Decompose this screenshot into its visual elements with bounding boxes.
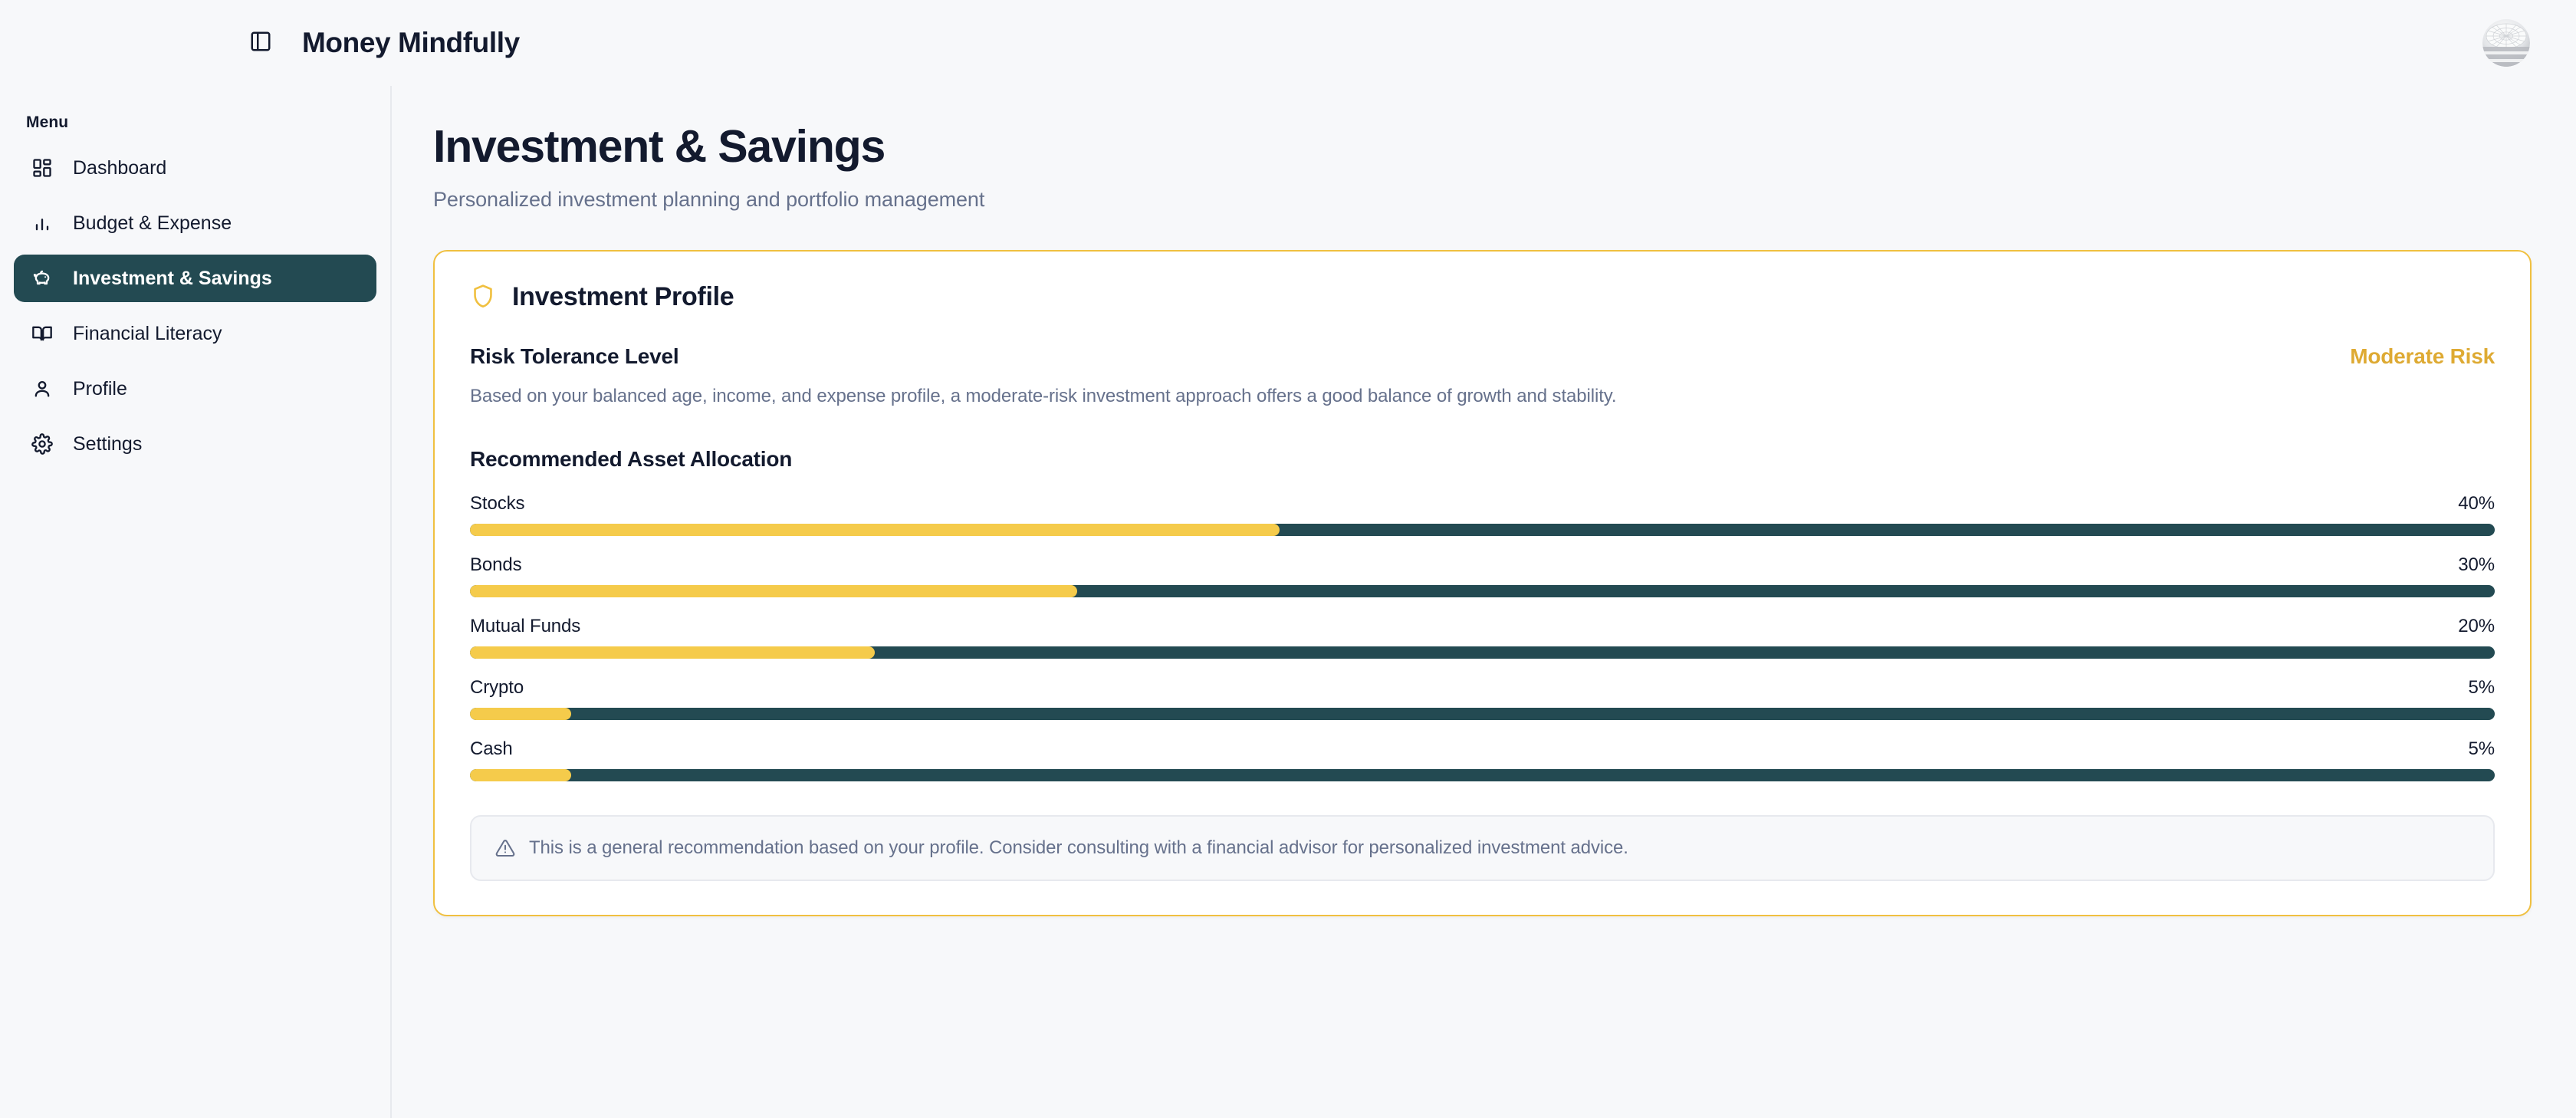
allocation-label: Cash xyxy=(470,738,513,760)
allocation-progress-track[interactable] xyxy=(470,708,2495,720)
allocation-row-header: Cash 5% xyxy=(470,738,2495,760)
allocation-label: Bonds xyxy=(470,554,522,576)
sidebar: Menu Dashboard xyxy=(0,86,392,1118)
sidebar-item-dashboard[interactable]: Dashboard xyxy=(14,144,376,192)
investment-profile-card: Investment Profile Risk Tolerance Level … xyxy=(433,250,2532,916)
sidebar-item-label: Settings xyxy=(73,435,142,454)
allocation-progress-fill xyxy=(470,646,875,659)
main-content: Investment & Savings Personalized invest… xyxy=(392,86,2576,1118)
allocation-progress-track[interactable] xyxy=(470,524,2495,536)
allocation-row-header: Crypto 5% xyxy=(470,677,2495,699)
card-header: Investment Profile xyxy=(470,282,2495,312)
app-title: Money Mindfully xyxy=(302,27,520,59)
allocation-value: 30% xyxy=(2458,554,2495,576)
asset-allocation-heading: Recommended Asset Allocation xyxy=(470,447,2495,472)
sidebar-item-investment-savings[interactable]: Investment & Savings xyxy=(14,255,376,302)
allocation-label: Crypto xyxy=(470,677,524,699)
allocation-progress-fill xyxy=(470,769,571,781)
allocation-row: Stocks 40% xyxy=(470,493,2495,536)
allocation-label: Mutual Funds xyxy=(470,616,580,637)
app-root: Money Mindfully xyxy=(0,0,2576,1118)
user-icon xyxy=(31,377,54,400)
sidebar-item-label: Dashboard xyxy=(73,159,166,178)
bar-chart-icon xyxy=(31,212,54,235)
sidebar-item-label: Investment & Savings xyxy=(73,269,272,288)
top-bar-left: Money Mindfully xyxy=(0,26,520,60)
sidebar-item-budget-expense[interactable]: Budget & Expense xyxy=(14,199,376,247)
sidebar-item-settings[interactable]: Settings xyxy=(14,420,376,468)
disclaimer-notice: This is a general recommendation based o… xyxy=(470,815,2495,881)
gear-icon xyxy=(31,432,54,455)
page-title: Investment & Savings xyxy=(421,123,2532,172)
allocation-value: 5% xyxy=(2469,738,2495,760)
avatar[interactable] xyxy=(2482,19,2530,67)
risk-description: Based on your balanced age, income, and … xyxy=(470,386,2495,407)
allocation-progress-track[interactable] xyxy=(470,769,2495,781)
allocation-value: 20% xyxy=(2458,616,2495,637)
book-open-icon xyxy=(31,322,54,345)
disclaimer-text: This is a general recommendation based o… xyxy=(529,837,1628,859)
card-title: Investment Profile xyxy=(512,282,734,312)
sidebar-item-label: Financial Literacy xyxy=(73,324,222,344)
allocation-row: Crypto 5% xyxy=(470,677,2495,720)
sidebar-item-financial-literacy[interactable]: Financial Literacy xyxy=(14,310,376,357)
risk-level-badge: Moderate Risk xyxy=(2350,344,2495,369)
allocation-value: 5% xyxy=(2469,677,2495,699)
page-subtitle: Personalized investment planning and por… xyxy=(421,188,2532,212)
allocation-row-header: Mutual Funds 20% xyxy=(470,616,2495,637)
alert-triangle-icon xyxy=(495,837,515,858)
top-bar: Money Mindfully xyxy=(0,0,2576,86)
sidebar-item-profile[interactable]: Profile xyxy=(14,365,376,413)
allocation-progress-track[interactable] xyxy=(470,585,2495,597)
body-split: Menu Dashboard xyxy=(0,86,2576,1118)
top-bar-right xyxy=(2482,19,2534,67)
allocation-row-header: Bonds 30% xyxy=(470,554,2495,576)
allocation-value: 40% xyxy=(2458,493,2495,515)
shield-icon xyxy=(470,283,496,311)
panel-left-icon xyxy=(249,30,272,57)
allocation-progress-fill xyxy=(470,585,1077,597)
sidebar-toggle-button[interactable] xyxy=(244,26,278,60)
piggy-bank-icon xyxy=(31,267,54,290)
allocation-row: Cash 5% xyxy=(470,738,2495,781)
allocation-progress-fill xyxy=(470,708,571,720)
allocation-label: Stocks xyxy=(470,493,524,515)
sidebar-item-label: Profile xyxy=(73,380,127,399)
risk-tolerance-heading: Risk Tolerance Level xyxy=(470,344,679,369)
allocation-row: Bonds 30% xyxy=(470,554,2495,597)
risk-tolerance-row: Risk Tolerance Level Moderate Risk xyxy=(470,344,2495,369)
layout-dashboard-icon xyxy=(31,156,54,179)
asset-allocation-list: Stocks 40% Bonds 30% xyxy=(470,493,2495,781)
sidebar-section-label: Menu xyxy=(14,113,376,144)
allocation-progress-track[interactable] xyxy=(470,646,2495,659)
sidebar-item-label: Budget & Expense xyxy=(73,214,232,233)
avatar-image xyxy=(2482,19,2530,67)
allocation-row-header: Stocks 40% xyxy=(470,493,2495,515)
allocation-progress-fill xyxy=(470,524,1280,536)
allocation-row: Mutual Funds 20% xyxy=(470,616,2495,659)
